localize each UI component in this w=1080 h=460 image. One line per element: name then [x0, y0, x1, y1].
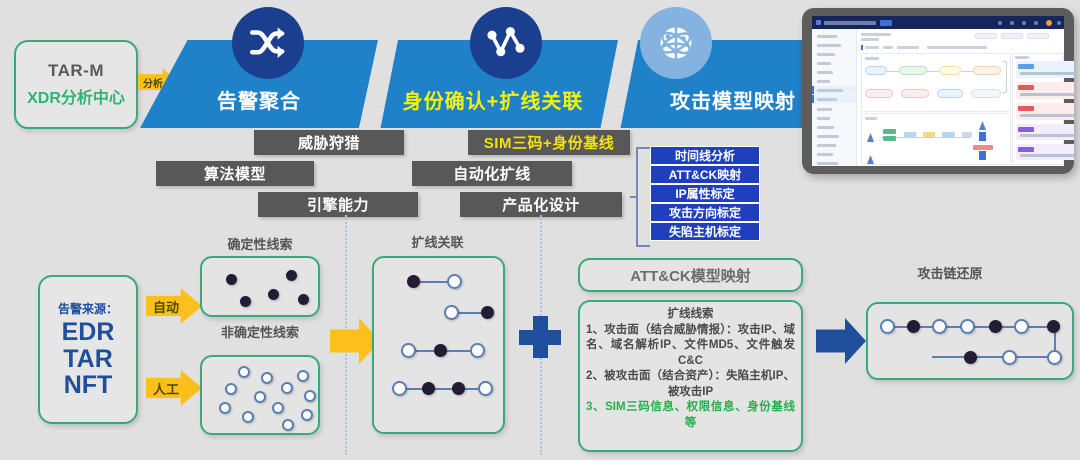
list-item-label: 时间线分析: [675, 147, 735, 164]
clue-dot: [261, 372, 273, 384]
clue-dot: [225, 383, 237, 395]
banner-stage-1-label: 告警聚合: [140, 85, 378, 114]
clue-dot: [272, 402, 284, 414]
tag-sim-identity-baseline[interactable]: SIM三码+身份基线: [468, 130, 630, 155]
tar-m-title: TAR-M: [48, 61, 104, 81]
alert-source-title: 告警来源：: [58, 300, 118, 317]
graph-node: [481, 306, 494, 319]
list-item[interactable]: IP属性标定: [650, 184, 760, 203]
tag-algorithm-model[interactable]: 算法模型: [156, 161, 314, 186]
graph-node: [422, 382, 435, 395]
list-item[interactable]: 失陷主机标定: [650, 222, 760, 241]
clue-dot: [304, 390, 316, 402]
thumbnail-screen: [812, 16, 1064, 166]
graph-edge: [401, 388, 486, 390]
non-deterministic-caption: 非确定性线索: [200, 322, 320, 341]
tar-m-card: TAR-M XDR分析中心: [14, 40, 138, 129]
thumbnail-toolbar-icon: [1034, 21, 1038, 25]
thumbnail-alert-list: [1014, 61, 1062, 161]
tag-productized-design-label: 产品化设计: [502, 194, 580, 215]
tag-algorithm-model-label: 算法模型: [204, 163, 266, 184]
tar-m-subtitle: XDR分析中心: [27, 84, 125, 108]
thumbnail-toolbar-icon: [998, 21, 1002, 25]
expansion-caption-label: 扩线关联: [411, 235, 463, 250]
graph-node: [407, 275, 420, 288]
list-item-label: IP属性标定: [675, 185, 734, 202]
non-deterministic-clue-box: [200, 355, 320, 435]
to-attack-chain-arrow: [816, 318, 866, 364]
auto-arrow: 自动: [146, 288, 202, 324]
attck-detail-line-1: 1、攻击面（结合威胁情报）：攻击IP、域名、域名解析IP、文件MD5、文件触发C…: [586, 323, 795, 370]
clue-dot: [301, 409, 313, 421]
expansion-relation-box: [372, 256, 505, 434]
tag-productized-design[interactable]: 产品化设计: [460, 192, 622, 217]
network-nodes-icon: [470, 7, 542, 79]
deterministic-clue-box: [200, 256, 320, 317]
thumbnail-toolbar-icon: [1010, 21, 1014, 25]
attack-chain-box: [866, 302, 1074, 380]
clue-dot: [240, 296, 251, 307]
graph-node: [434, 344, 447, 357]
thumbnail-toolbar-icon: [1057, 21, 1061, 25]
alert-source-card: 告警来源： EDR TAR NFT: [38, 275, 138, 424]
mapping-capability-list: 时间线分析 ATT&CK映射 IP属性标定 攻击方向标定 失陷主机标定: [650, 146, 760, 241]
list-item-label: 失陷主机标定: [669, 223, 741, 240]
graph-node: [452, 382, 465, 395]
list-item-label: 攻击方向标定: [669, 204, 741, 221]
alert-source-edr: EDR: [62, 319, 115, 346]
clue-dot: [242, 411, 254, 423]
thumbnail-toolbar-icon: [1022, 21, 1026, 25]
attck-mapping-header: ATT&CK模型映射: [578, 258, 803, 292]
diagram-canvas: TAR-M XDR分析中心 分析 告警聚合 身份确认+扩线关联 攻击模型映射: [0, 0, 1080, 460]
banner-stage-2-label: 身份确认+扩线关联: [368, 85, 618, 114]
list-item[interactable]: 攻击方向标定: [650, 203, 760, 222]
tag-threat-hunting[interactable]: 威胁狩猎: [254, 130, 404, 155]
chain-node: [880, 319, 895, 334]
non-deterministic-caption-label: 非确定性线索: [221, 325, 299, 340]
plus-icon: [519, 316, 561, 358]
chain-node: [1047, 350, 1062, 365]
clue-dot: [286, 270, 297, 281]
thumbnail-titlebar: [812, 16, 1064, 29]
graph-node: [447, 274, 462, 289]
chain-node: [1014, 319, 1029, 334]
alert-source-nft: NFT: [64, 372, 113, 399]
clue-dot: [297, 370, 309, 382]
graph-node: [470, 343, 485, 358]
clue-dot: [298, 294, 309, 305]
tag-automated-expansion-label: 自动化扩线: [453, 163, 531, 184]
list-item[interactable]: ATT&CK映射: [650, 165, 760, 184]
clue-dot: [226, 274, 237, 285]
globe-network-icon: [640, 7, 712, 79]
chain-edge: [932, 356, 1056, 358]
deterministic-caption: 确定性线索: [200, 234, 320, 253]
tag-automated-expansion[interactable]: 自动化扩线: [412, 161, 572, 186]
graph-node: [444, 305, 459, 320]
attack-chain-caption-label: 攻击链还原: [917, 266, 982, 281]
thumbnail-sidebar: [812, 29, 857, 166]
expansion-caption: 扩线关联: [370, 232, 505, 251]
clue-dot: [238, 366, 250, 378]
manual-arrow: 人工: [146, 370, 202, 406]
thumbnail-badge: [880, 20, 892, 26]
alert-source-tar: TAR: [63, 346, 113, 373]
clue-dot: [254, 391, 266, 403]
clue-dot: [219, 402, 231, 414]
chain-node: [989, 320, 1002, 333]
attck-detail-line-2: 2、被攻击面（结合资产）：失陷主机IP、被攻击IP: [586, 369, 795, 400]
manual-arrow-label: 人工: [153, 379, 179, 398]
tag-engine-capability[interactable]: 引擎能力: [258, 192, 418, 217]
clue-dot: [281, 382, 293, 394]
clue-dot: [282, 419, 294, 431]
auto-arrow-label: 自动: [153, 297, 179, 316]
graph-node: [392, 381, 407, 396]
list-bracket: [636, 147, 650, 247]
graph-node: [401, 343, 416, 358]
attck-mapping-header-label: ATT&CK模型映射: [630, 265, 751, 286]
chain-node: [907, 320, 920, 333]
tag-threat-hunting-label: 威胁狩猎: [298, 132, 360, 153]
chain-node: [960, 319, 975, 334]
chain-node: [964, 351, 977, 364]
attck-detail-text: 扩线线索 1、攻击面（结合威胁情报）：攻击IP、域名、域名解析IP、文件MD5、…: [582, 304, 799, 431]
clue-dot: [268, 289, 279, 300]
tag-engine-capability-label: 引擎能力: [307, 194, 369, 215]
attck-detail-highlight: 3、SIM三码信息、权限信息、身份基线等: [586, 400, 795, 431]
deterministic-caption-label: 确定性线索: [227, 237, 292, 252]
list-item[interactable]: 时间线分析: [650, 146, 760, 165]
chain-node: [1047, 320, 1060, 333]
chain-node: [1002, 350, 1017, 365]
shuffle-icon: [232, 7, 304, 79]
chain-node: [932, 319, 947, 334]
attack-chain-caption: 攻击链还原: [880, 263, 1020, 282]
tag-sim-identity-baseline-label: SIM三码+身份基线: [484, 132, 614, 153]
attck-detail-title: 扩线线索: [586, 307, 795, 323]
list-item-label: ATT&CK映射: [669, 166, 741, 183]
graph-node: [478, 381, 493, 396]
product-screenshot-thumbnail[interactable]: [802, 8, 1074, 174]
thumbnail-avatar: [1046, 20, 1052, 26]
thumbnail-app-title: [824, 21, 876, 25]
thumbnail-logo-icon: [816, 20, 821, 25]
